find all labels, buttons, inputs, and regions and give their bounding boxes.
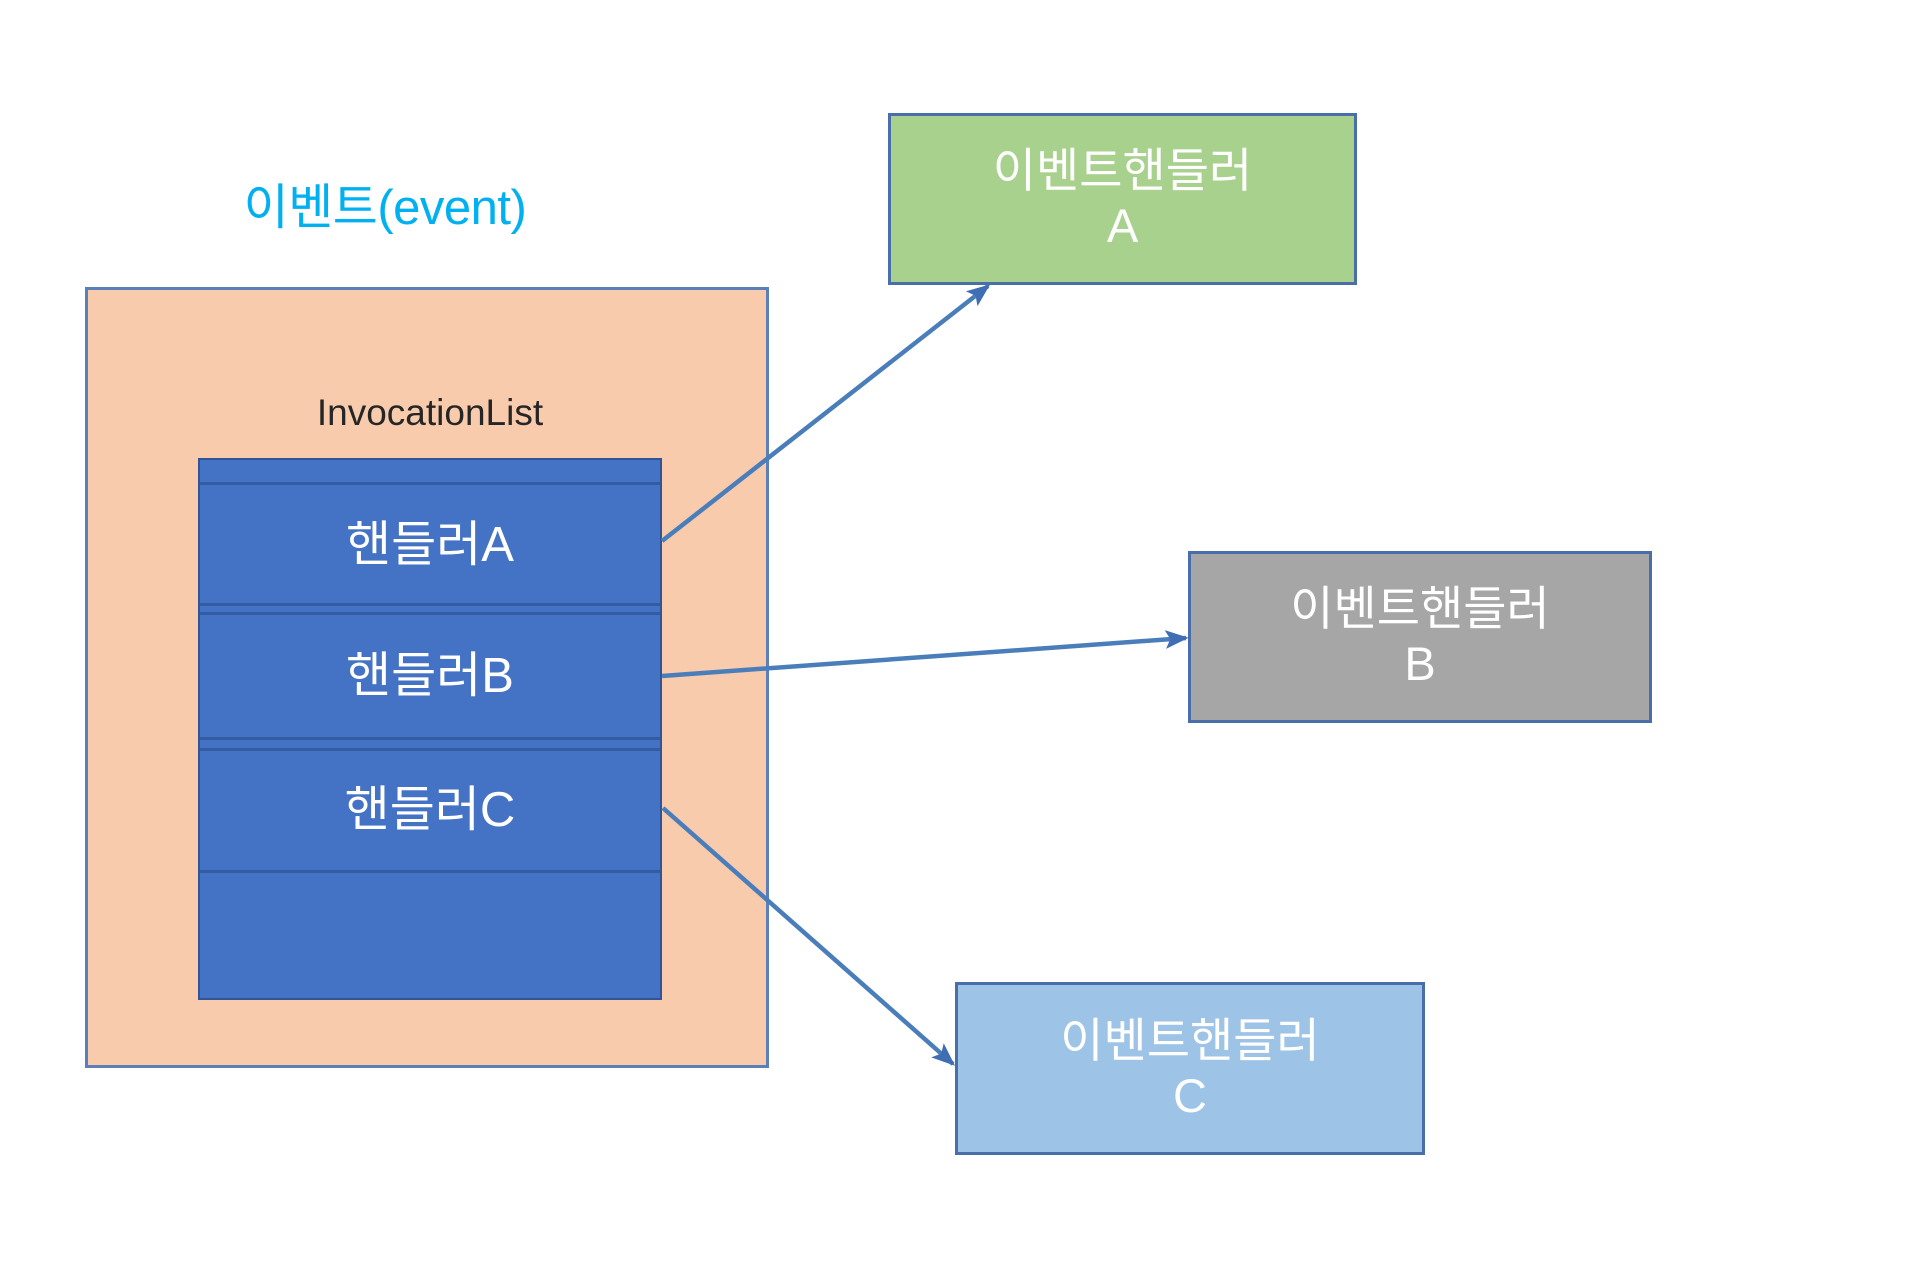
- invocationlist-row: 핸들러A: [200, 486, 660, 604]
- event-handler-c-line2: C: [1173, 1069, 1207, 1124]
- invocationlist-row-label: 핸들러A: [346, 521, 514, 570]
- event-handler-b-line2: B: [1404, 637, 1435, 692]
- invocationlist-box: 핸들러A 핸들러B 핸들러C: [198, 458, 662, 1000]
- invocationlist-divider: [200, 737, 660, 740]
- diagram-canvas: 이벤트(event) InvocationList 핸들러A 핸들러B 핸들러C…: [0, 0, 1920, 1268]
- invocationlist-divider: [200, 870, 660, 873]
- invocationlist-label: InvocationList: [198, 392, 662, 434]
- invocationlist-row-empty: [200, 874, 660, 998]
- event-handler-b-line1: 이벤트핸들러: [1290, 582, 1549, 637]
- event-title-label: 이벤트(event): [85, 180, 685, 236]
- invocationlist-row: 핸들러B: [200, 615, 660, 737]
- event-handler-c-box: 이벤트핸들러 C: [955, 982, 1425, 1155]
- invocationlist-row: 핸들러C: [200, 751, 660, 870]
- event-handler-b-box: 이벤트핸들러 B: [1188, 551, 1652, 723]
- event-handler-a-line2: A: [1107, 199, 1138, 254]
- invocationlist-divider-top: [200, 482, 660, 485]
- event-handler-c-line1: 이벤트핸들러: [1060, 1014, 1319, 1069]
- event-handler-a-box: 이벤트핸들러 A: [888, 113, 1357, 285]
- event-handler-a-line1: 이벤트핸들러: [993, 144, 1252, 199]
- invocationlist-divider: [200, 603, 660, 606]
- invocationlist-row-label: 핸들러B: [346, 652, 514, 701]
- invocationlist-row-label: 핸들러C: [345, 786, 516, 835]
